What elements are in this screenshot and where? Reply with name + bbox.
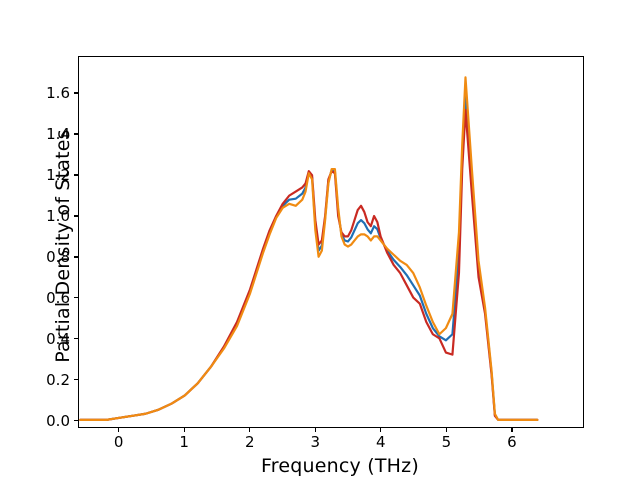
y-tick-label: 0.8 [14, 249, 70, 265]
curve-svg [79, 57, 583, 427]
x-tick-mark [380, 428, 381, 432]
y-tick-mark [74, 92, 78, 93]
y-tick-mark [74, 338, 78, 339]
y-tick-label: 1.0 [14, 208, 70, 224]
y-tick-mark [74, 133, 78, 134]
y-tick-label: 1.2 [14, 167, 70, 183]
x-tick-label: 1 [164, 433, 204, 451]
y-tick-mark [74, 256, 78, 257]
x-tick-mark [446, 428, 447, 432]
y-tick-label: 0.0 [14, 413, 70, 429]
y-tick-label: 0.2 [14, 372, 70, 388]
x-axis-label: Frequency (THz) [0, 455, 640, 477]
x-tick-label: 3 [295, 433, 335, 451]
x-tick-label: 6 [492, 433, 532, 451]
y-tick-label: 0.6 [14, 290, 70, 306]
x-tick-mark [118, 428, 119, 432]
series-line-series_2 [80, 77, 537, 419]
x-tick-mark [249, 428, 250, 432]
y-tick-mark [74, 297, 78, 298]
x-tick-label: 0 [99, 433, 139, 451]
x-tick-label: 5 [426, 433, 466, 451]
x-tick-mark [511, 428, 512, 432]
series-line-series_1 [80, 110, 537, 420]
y-tick-label: 1.4 [14, 126, 70, 142]
plot-area [78, 56, 584, 428]
y-tick-mark [74, 379, 78, 380]
x-tick-label: 4 [361, 433, 401, 451]
x-tick-mark [184, 428, 185, 432]
x-tick-label: 2 [230, 433, 270, 451]
x-tick-mark [315, 428, 316, 432]
y-tick-label: 0.4 [14, 331, 70, 347]
y-tick-label: 1.6 [14, 85, 70, 101]
x-axis-label-text: Frequency (THz) [221, 455, 419, 477]
figure-canvas: Partial Density of States 01234560.00.20… [0, 0, 640, 480]
y-tick-mark [74, 420, 78, 421]
y-tick-mark [74, 174, 78, 175]
y-tick-mark [74, 215, 78, 216]
